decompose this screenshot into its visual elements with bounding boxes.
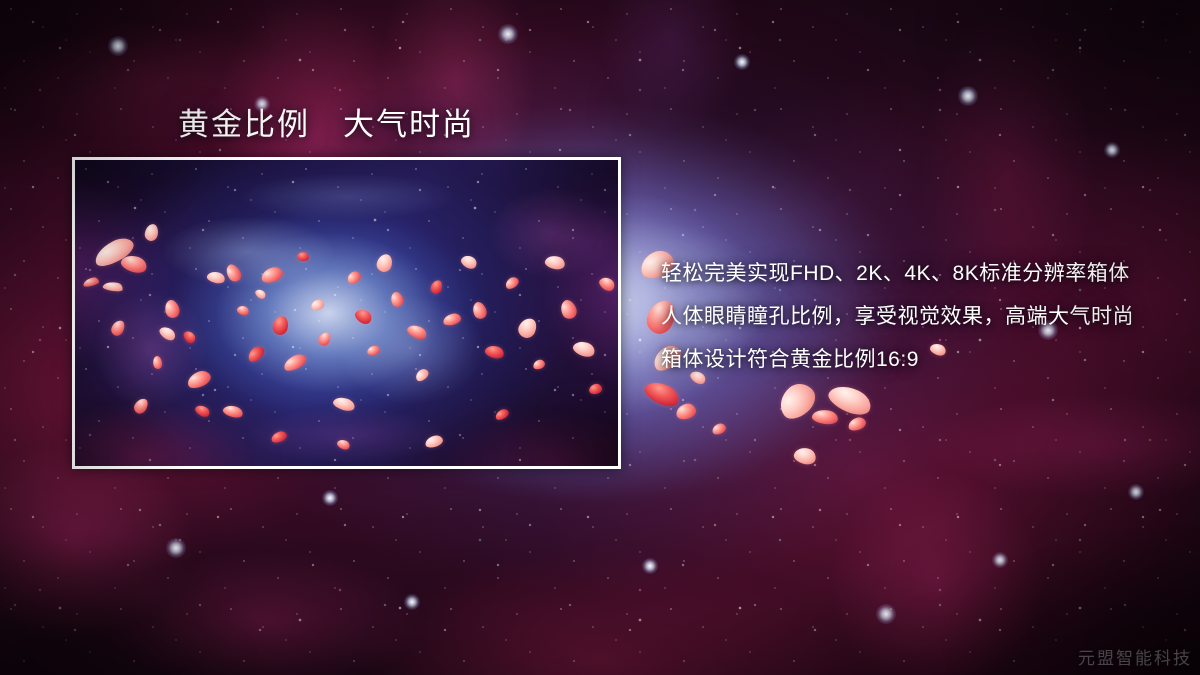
body-line-3: 箱体设计符合黄金比例16:9 (661, 338, 1161, 381)
presentation-slide: 黄金比例 大气时尚 轻松完美实现FHD、2K、4K、8K标准分辨率箱体 人体眼睛… (0, 0, 1200, 675)
panel-photo (75, 160, 618, 466)
body-line-2: 人体眼睛瞳孔比例，享受视觉效果，高端大气时尚 (661, 295, 1161, 338)
slide-title: 黄金比例 大气时尚 (178, 99, 475, 144)
slide-body-text: 轻松完美实现FHD、2K、4K、8K标准分辨率箱体 人体眼睛瞳孔比例，享受视觉效… (661, 252, 1161, 381)
panel-vignette (75, 160, 618, 466)
framed-image-panel[interactable] (72, 157, 621, 469)
watermark-label: 元盟智能科技 (1078, 644, 1192, 669)
body-line-1: 轻松完美实现FHD、2K、4K、8K标准分辨率箱体 (661, 252, 1161, 295)
